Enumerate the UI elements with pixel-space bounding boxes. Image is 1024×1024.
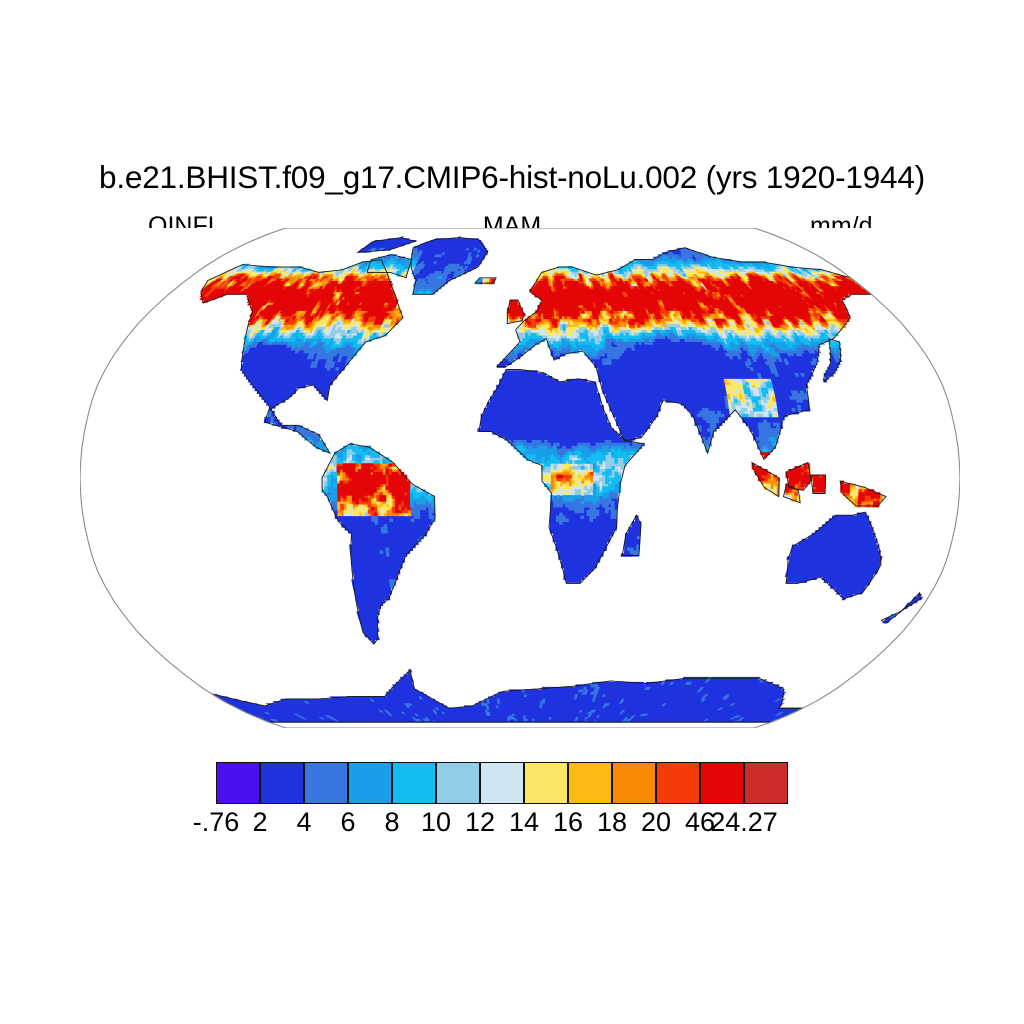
map-plot-area — [80, 228, 960, 728]
page-title: b.e21.BHIST.f09_g17.CMIP6-hist-noLu.002 … — [0, 160, 1024, 194]
colorbar-cell — [348, 762, 392, 804]
colorbar-cell — [656, 762, 700, 804]
colorbar-cell — [304, 762, 348, 804]
colorbar-cell — [524, 762, 568, 804]
colorbar-cell — [568, 762, 612, 804]
climate-map-figure: b.e21.BHIST.f09_g17.CMIP6-hist-noLu.002 … — [0, 0, 1024, 1024]
colorbar — [216, 762, 788, 804]
colorbar-cell — [260, 762, 304, 804]
colorbar-cell — [700, 762, 744, 804]
colorbar-cell — [744, 762, 788, 804]
colorbar-cell — [436, 762, 480, 804]
colorbar-cell — [480, 762, 524, 804]
colorbar-cell — [216, 762, 260, 804]
colorbar-cell — [392, 762, 436, 804]
colorbar-tick-label: 24.27 — [684, 806, 804, 838]
robinson-projection-map — [80, 228, 960, 728]
colorbar-cell — [612, 762, 656, 804]
colorbar-tick-labels: -.7624681012141618204624.27 — [0, 806, 1024, 846]
